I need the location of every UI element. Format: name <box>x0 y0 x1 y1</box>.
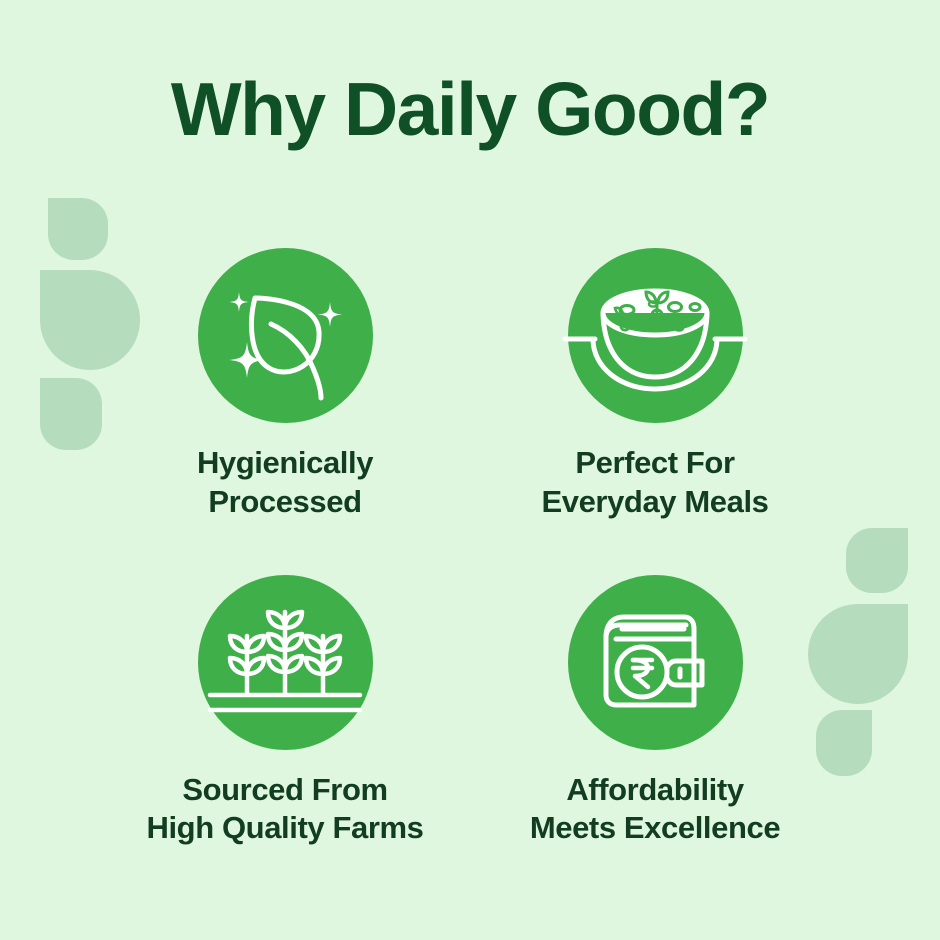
icon-circle <box>198 575 373 750</box>
feature-item-perfect-for-everyday-meals[interactable]: Perfect For Everyday Meals <box>470 248 840 522</box>
feature-row-top: Hygienically Processed <box>100 248 840 522</box>
feature-label: Perfect For Everyday Meals <box>541 444 768 522</box>
feature-row-bottom: Sourced From High Quality Farms <box>100 575 840 849</box>
feature-label: Affordability Meets Excellence <box>530 771 780 849</box>
feature-grid: Hygienically Processed <box>100 248 840 848</box>
feature-item-affordability-meets-excellence[interactable]: Affordability Meets Excellence <box>470 575 840 849</box>
leaf-shape-small-bottom <box>40 378 102 450</box>
icon-circle <box>568 248 743 423</box>
page-title: Why Daily Good? <box>0 72 940 147</box>
feature-item-hygienically-processed[interactable]: Hygienically Processed <box>100 248 470 522</box>
feature-item-sourced-from-high-quality-farms[interactable]: Sourced From High Quality Farms <box>100 575 470 849</box>
wheat-field-icon <box>220 598 350 726</box>
promo-banner: Why Daily Good? <box>0 0 940 940</box>
icon-circle <box>198 248 373 423</box>
feature-label: Sourced From High Quality Farms <box>146 771 423 849</box>
leaf-shape-small-top <box>48 198 108 260</box>
leaf-sparkle-icon <box>225 276 345 396</box>
wallet-rupee-icon <box>600 609 710 715</box>
feature-label: Hygienically Processed <box>197 444 373 522</box>
icon-circle <box>568 575 743 750</box>
leaf-shape-small-top <box>846 528 908 593</box>
soup-bowl-icon <box>587 277 723 395</box>
